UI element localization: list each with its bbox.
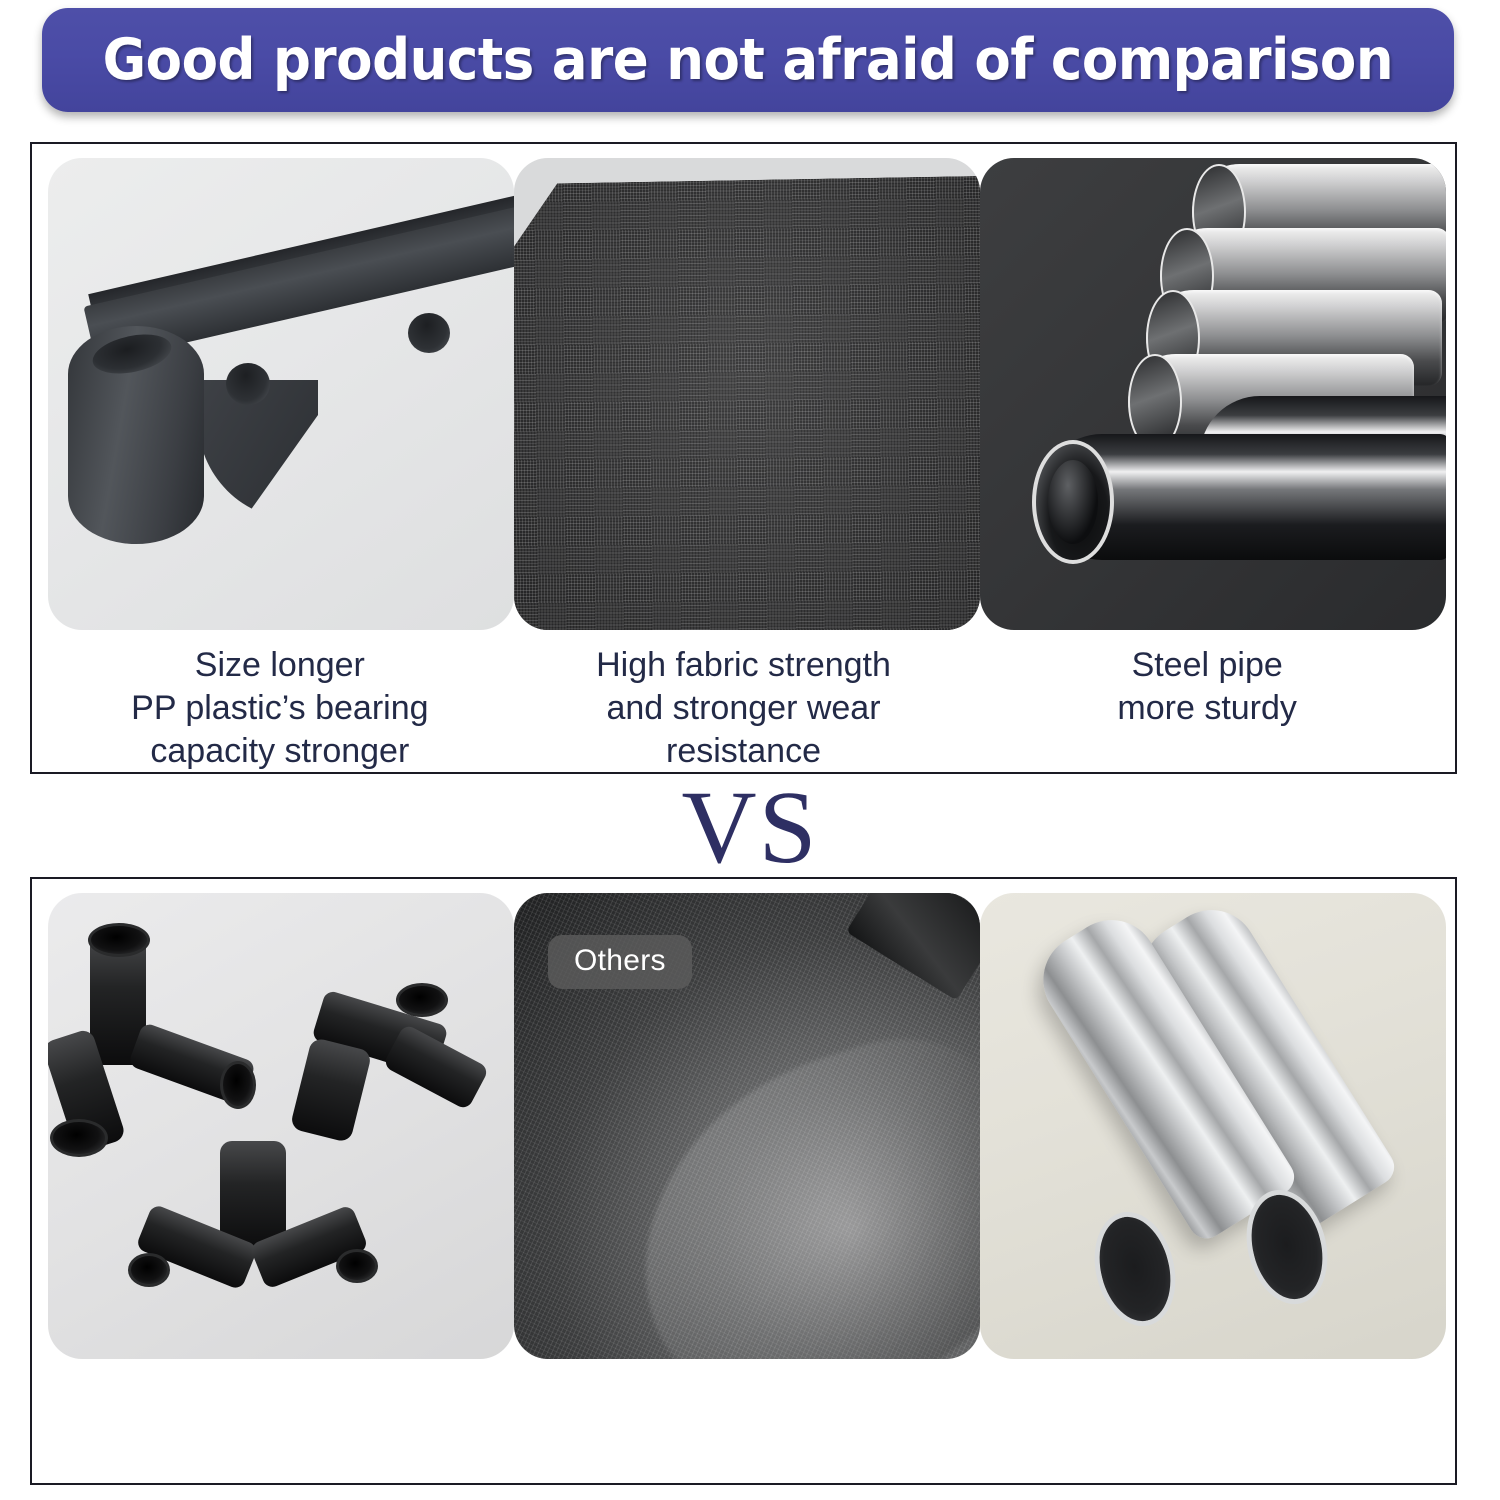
woven-fabric-closeup-photo — [514, 158, 980, 630]
caption-fabric-strength: High fabric strength and stronger wear r… — [512, 636, 976, 774]
connector-arm-down-left — [290, 1037, 373, 1143]
pp-plastic-bracket-photo — [48, 158, 514, 630]
our-product-image-row — [32, 144, 1455, 630]
black-plastic-connectors-photo — [48, 893, 514, 1359]
others-product-panel: Others — [30, 877, 1457, 1485]
caption-size-longer: Size longer PP plastic’s bearing capacit… — [48, 636, 512, 774]
others-product-image-row: Others — [32, 879, 1455, 1359]
black-steel-pipes-photo — [980, 158, 1446, 630]
connector-b-mouth-left — [128, 1253, 170, 1287]
silver-pipe-opening-front — [1083, 1203, 1187, 1334]
bracket-small-hole-1 — [226, 363, 270, 405]
connector-mouth-right — [220, 1061, 256, 1109]
header-banner: Good products are not afraid of comparis… — [42, 8, 1454, 112]
our-product-caption-row: Size longer PP plastic’s bearing capacit… — [32, 636, 1455, 774]
caption-steel-pipe: Steel pipe more sturdy — [975, 636, 1439, 774]
fabric-seam-edge — [846, 893, 980, 1001]
steel-pipe-opening — [1032, 440, 1114, 564]
connector-mouth-diag — [396, 983, 448, 1017]
banner-title: Good products are not afraid of comparis… — [103, 27, 1394, 93]
infographic-page: Good products are not afraid of comparis… — [0, 0, 1500, 1500]
thin-fabric-closeup-photo: Others — [514, 893, 980, 1359]
fabric-weave-surface — [514, 176, 980, 630]
silver-thin-pipes-photo — [980, 893, 1446, 1359]
connector-mouth-up — [88, 923, 150, 957]
others-badge: Others — [548, 935, 692, 989]
connector-mouth-left — [50, 1119, 108, 1157]
our-product-panel: Size longer PP plastic’s bearing capacit… — [30, 142, 1457, 774]
fabric-fold-highlight — [593, 1009, 980, 1359]
connector-b-arm-up — [220, 1141, 286, 1249]
bracket-small-hole-2 — [408, 313, 450, 353]
vs-divider-label: VS — [0, 776, 1500, 880]
connector-b-mouth-right — [336, 1249, 378, 1283]
